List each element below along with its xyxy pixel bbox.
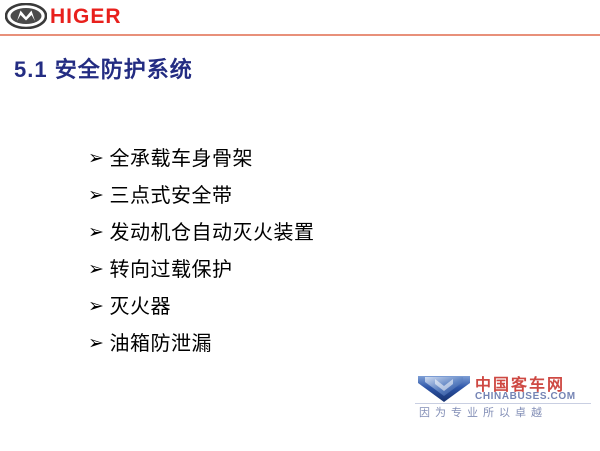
watermark-domain: CHINABUSES.COM bbox=[475, 391, 576, 402]
arrow-bullet-icon: ➢ bbox=[88, 217, 105, 247]
list-item: ➢ 全承载车身骨架 bbox=[88, 143, 528, 180]
list-item-label: 转向过载保护 bbox=[109, 254, 232, 284]
arrow-bullet-icon: ➢ bbox=[88, 328, 105, 358]
list-item-label: 油箱防泄漏 bbox=[109, 328, 212, 358]
list-item: ➢ 发动机仓自动灭火装置 bbox=[88, 217, 528, 254]
page-title: 5.1 安全防护系统 bbox=[14, 52, 193, 84]
list-item-label: 灭火器 bbox=[109, 291, 171, 321]
blue-shield-icon bbox=[415, 372, 473, 404]
header-divider bbox=[0, 34, 600, 36]
list-item: ➢ 三点式安全带 bbox=[88, 180, 528, 217]
list-item: ➢ 灭火器 bbox=[88, 291, 528, 328]
list-item: ➢ 油箱防泄漏 bbox=[88, 328, 528, 365]
arrow-bullet-icon: ➢ bbox=[88, 254, 105, 284]
slide-header: HIGER bbox=[0, 0, 600, 36]
list-item-label: 发动机仓自动灭火装置 bbox=[109, 217, 314, 247]
arrow-bullet-icon: ➢ bbox=[88, 180, 105, 210]
chinabuses-watermark: 中国客车网 CHINABUSES.COM 因为专业所以卓越 bbox=[413, 370, 593, 420]
higer-oval-logo-icon bbox=[5, 3, 47, 29]
brand-name: HIGER bbox=[50, 5, 122, 28]
list-item: ➢ 转向过载保护 bbox=[88, 254, 528, 291]
watermark-tagline: 因为专业所以卓越 bbox=[419, 404, 547, 420]
arrow-bullet-icon: ➢ bbox=[88, 143, 105, 173]
feature-bullet-list: ➢ 全承载车身骨架 ➢ 三点式安全带 ➢ 发动机仓自动灭火装置 ➢ 转向过载保护… bbox=[88, 143, 528, 365]
arrow-bullet-icon: ➢ bbox=[88, 291, 105, 321]
slide-canvas: HIGER 5.1 安全防护系统 ➢ 全承载车身骨架 ➢ 三点式安全带 ➢ 发动… bbox=[0, 0, 600, 451]
list-item-label: 全承载车身骨架 bbox=[109, 143, 253, 173]
list-item-label: 三点式安全带 bbox=[109, 180, 232, 210]
